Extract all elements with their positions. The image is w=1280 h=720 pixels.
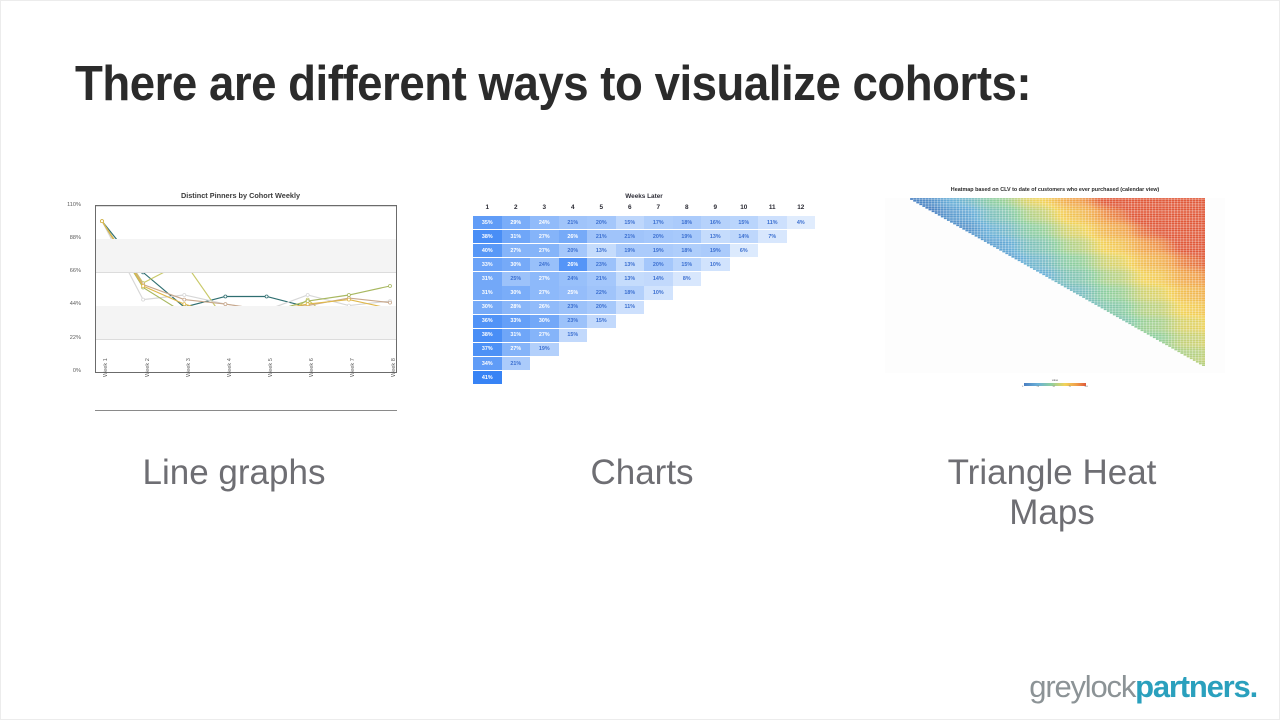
cohort-cell[interactable]: 4% bbox=[787, 216, 816, 229]
cohort-cell[interactable]: 35% bbox=[473, 216, 502, 229]
cohort-cell[interactable]: 20% bbox=[587, 301, 616, 314]
line-data-point bbox=[389, 301, 392, 304]
cohort-cell[interactable]: 26% bbox=[559, 230, 588, 243]
line-data-point bbox=[306, 300, 309, 303]
cohort-cell[interactable]: 21% bbox=[559, 216, 588, 229]
line-chart-band bbox=[96, 306, 396, 339]
line-chart-x-tick: Week 8 bbox=[391, 358, 397, 377]
cohort-cell[interactable]: 18% bbox=[616, 286, 645, 299]
cohort-cell[interactable]: 30% bbox=[530, 315, 559, 328]
line-chart-x-tick: Week 5 bbox=[268, 358, 274, 377]
line-chart-y-tick: 44% bbox=[21, 301, 81, 307]
cohort-cell[interactable]: 15% bbox=[616, 216, 645, 229]
cohort-cell[interactable]: 20% bbox=[559, 244, 588, 257]
caption-line-1: Triangle Heat bbox=[948, 453, 1157, 492]
heatmap-legend: value 0255075100 bbox=[1015, 379, 1095, 388]
cohort-cell[interactable]: 33% bbox=[473, 258, 502, 271]
cohort-cell[interactable]: 30% bbox=[502, 286, 531, 299]
cohort-cell[interactable]: 36% bbox=[473, 315, 502, 328]
slide-canvas: There are different ways to visualize co… bbox=[0, 0, 1280, 720]
cohort-cell[interactable]: 37% bbox=[473, 343, 502, 356]
logo-partners-text: partners. bbox=[1135, 669, 1257, 704]
cohort-column-header: 3 bbox=[530, 204, 559, 211]
cohort-column-header: 7 bbox=[644, 204, 673, 211]
cohort-cell[interactable]: 16% bbox=[701, 216, 730, 229]
cohort-cell[interactable]: 26% bbox=[559, 258, 588, 271]
cohort-cell[interactable]: 19% bbox=[701, 244, 730, 257]
cohort-cell[interactable]: 31% bbox=[473, 272, 502, 285]
cohort-cell[interactable]: 13% bbox=[616, 272, 645, 285]
cohort-cell[interactable]: 6% bbox=[730, 244, 759, 257]
cohort-column-header: 9 bbox=[701, 204, 730, 211]
cohort-column-header: 5 bbox=[587, 204, 616, 211]
line-data-point bbox=[142, 298, 145, 301]
cohort-cell[interactable]: 21% bbox=[587, 230, 616, 243]
cohort-cell[interactable]: 26% bbox=[530, 301, 559, 314]
cohort-cell[interactable]: 20% bbox=[644, 230, 673, 243]
line-data-point bbox=[183, 298, 186, 301]
heatmap-svg bbox=[910, 198, 1205, 366]
cohort-cell[interactable]: 15% bbox=[730, 216, 759, 229]
greylock-partners-logo: greylockpartners. bbox=[1029, 669, 1257, 705]
cohort-chart-panel: Weeks Later 123456789101112 35%29%24%21%… bbox=[473, 193, 815, 398]
line-chart-x-tick: Week 2 bbox=[145, 358, 151, 377]
cohort-cell[interactable]: 23% bbox=[559, 301, 588, 314]
cohort-cell[interactable]: 15% bbox=[587, 315, 616, 328]
cohort-cell[interactable]: 23% bbox=[559, 315, 588, 328]
cohort-cell[interactable]: 31% bbox=[502, 230, 531, 243]
cohort-cell[interactable]: 8% bbox=[673, 272, 702, 285]
cohort-cell[interactable]: 30% bbox=[502, 258, 531, 271]
cohort-cell[interactable]: 27% bbox=[530, 286, 559, 299]
line-chart-x-tick: Week 3 bbox=[186, 358, 192, 377]
line-chart-y-tick: 110% bbox=[21, 202, 81, 208]
cohort-cell[interactable]: 18% bbox=[673, 216, 702, 229]
cohort-cell[interactable]: 27% bbox=[502, 244, 531, 257]
cohort-cell[interactable]: 13% bbox=[587, 244, 616, 257]
line-data-point bbox=[224, 295, 227, 298]
caption-triangle-heat-maps: Triangle Heat Maps bbox=[891, 453, 1213, 533]
cohort-cell[interactable]: 19% bbox=[673, 230, 702, 243]
cohort-column-header: 8 bbox=[673, 204, 702, 211]
heatmap-legend-ticks: 0255075100 bbox=[1022, 386, 1088, 388]
heatmap-canvas bbox=[910, 198, 1205, 366]
cohort-cell[interactable]: 27% bbox=[530, 272, 559, 285]
cohort-cell[interactable]: 31% bbox=[473, 286, 502, 299]
cohort-cell[interactable]: 19% bbox=[644, 244, 673, 257]
line-chart-title: Distinct Pinners by Cohort Weekly bbox=[73, 191, 408, 200]
cohort-cell[interactable]: 20% bbox=[644, 258, 673, 271]
line-data-point bbox=[389, 285, 392, 288]
cohort-cell[interactable]: 28% bbox=[502, 301, 531, 314]
caption-line-graphs: Line graphs bbox=[73, 453, 395, 493]
cohort-cell[interactable]: 30% bbox=[473, 301, 502, 314]
line-chart-gridline bbox=[96, 339, 396, 340]
cohort-column-header: 12 bbox=[787, 204, 816, 211]
line-chart-x-tick: Week 1 bbox=[103, 358, 109, 377]
line-data-point bbox=[183, 294, 186, 297]
cohort-cell[interactable]: 27% bbox=[530, 230, 559, 243]
cohort-cell[interactable]: 17% bbox=[644, 216, 673, 229]
cohort-cell[interactable]: 20% bbox=[587, 216, 616, 229]
cohort-cell[interactable]: 23% bbox=[587, 258, 616, 271]
cohort-column-header: 6 bbox=[616, 204, 645, 211]
cohort-cell[interactable]: 10% bbox=[644, 286, 673, 299]
cohort-cell[interactable]: 25% bbox=[559, 286, 588, 299]
cohort-cell[interactable]: 19% bbox=[616, 244, 645, 257]
caption-charts: Charts bbox=[481, 453, 803, 493]
line-graph-panel: Distinct Pinners by Cohort Weekly 0%22%4… bbox=[73, 191, 408, 413]
line-chart-axis-rule bbox=[95, 410, 397, 411]
heatmap-legend-tick: 100 bbox=[1084, 386, 1088, 388]
cohort-cell[interactable]: 22% bbox=[587, 286, 616, 299]
line-chart-y-tick: 66% bbox=[21, 268, 81, 274]
line-data-point bbox=[142, 285, 145, 288]
cohort-cell[interactable]: 13% bbox=[616, 258, 645, 271]
heatmap-y-tick: 2013-12-24 bbox=[887, 364, 909, 366]
cohort-cell[interactable]: 41% bbox=[473, 371, 502, 384]
cohort-cell[interactable]: 11% bbox=[758, 216, 787, 229]
line-data-point bbox=[306, 294, 309, 297]
line-chart-gridline bbox=[96, 206, 396, 207]
line-chart-x-tick: Week 7 bbox=[350, 358, 356, 377]
cohort-cell[interactable]: 15% bbox=[559, 329, 588, 342]
caption-line-2: Maps bbox=[1009, 493, 1095, 532]
cohort-cell[interactable]: 11% bbox=[616, 301, 645, 314]
cohort-cell[interactable]: 29% bbox=[502, 216, 531, 229]
cohort-cell[interactable]: 27% bbox=[502, 343, 531, 356]
cohort-cell[interactable]: 15% bbox=[673, 258, 702, 271]
page-title: There are different ways to visualize co… bbox=[75, 56, 1031, 112]
line-chart-gridline bbox=[96, 272, 396, 273]
cohort-column-headers: 123456789101112 bbox=[473, 204, 815, 215]
line-chart-x-tick: Week 6 bbox=[309, 358, 315, 377]
cohort-cell[interactable]: 27% bbox=[530, 244, 559, 257]
cohort-cell[interactable]: 33% bbox=[502, 315, 531, 328]
cohort-cell[interactable]: 14% bbox=[730, 230, 759, 243]
line-data-point bbox=[265, 295, 268, 298]
line-data-point bbox=[347, 298, 350, 301]
cohort-cell[interactable]: 18% bbox=[673, 244, 702, 257]
cohort-cell[interactable]: 7% bbox=[758, 230, 787, 243]
heatmap-title: Heatmap based on CLV to date of customer… bbox=[885, 187, 1225, 193]
cohort-cell[interactable]: 24% bbox=[530, 216, 559, 229]
cohort-cell[interactable]: 40% bbox=[473, 244, 502, 257]
cohort-cell[interactable]: 21% bbox=[587, 272, 616, 285]
cohort-cell[interactable]: 27% bbox=[530, 329, 559, 342]
heatmap-y-axis-labels: 2013-01-012013-02-022013-03-032013-04-04… bbox=[887, 198, 909, 366]
cohort-column-header: 4 bbox=[559, 204, 588, 211]
line-data-point bbox=[347, 294, 350, 297]
cohort-cell[interactable]: 34% bbox=[473, 357, 502, 370]
heatmap-legend-tick: 50 bbox=[1053, 386, 1055, 388]
line-chart-y-tick: 0% bbox=[21, 368, 81, 374]
heatmap-legend-tick: 75 bbox=[1068, 386, 1070, 388]
cohort-column-header: 10 bbox=[730, 204, 759, 211]
cohort-cell[interactable]: 14% bbox=[644, 272, 673, 285]
line-chart-band bbox=[96, 239, 396, 272]
line-chart-y-tick: 22% bbox=[21, 335, 81, 341]
cohort-cell[interactable]: 13% bbox=[701, 230, 730, 243]
cohort-cell[interactable]: 31% bbox=[502, 329, 531, 342]
cohort-column-header: 11 bbox=[758, 204, 787, 211]
cohort-chart-title: Weeks Later bbox=[473, 193, 815, 200]
cohort-column-header: 1 bbox=[473, 204, 502, 211]
cohort-cell[interactable]: 25% bbox=[502, 272, 531, 285]
heatmap-inner: 2013-01-012013-02-022013-03-032013-04-04… bbox=[885, 198, 1225, 373]
cohort-cell[interactable]: 24% bbox=[530, 258, 559, 271]
triangle-heatmap-panel: Heatmap based on CLV to date of customer… bbox=[885, 187, 1225, 399]
cohort-cell[interactable]: 38% bbox=[473, 329, 502, 342]
cohort-cell[interactable]: 19% bbox=[530, 343, 559, 356]
line-chart-y-tick: 88% bbox=[21, 235, 81, 241]
cohort-cell[interactable]: 21% bbox=[502, 357, 531, 370]
line-chart-x-tick: Week 4 bbox=[227, 358, 233, 377]
logo-greylock-text: greylock bbox=[1029, 669, 1135, 704]
cohort-column-header: 2 bbox=[502, 204, 531, 211]
heatmap-legend-tick: 25 bbox=[1037, 386, 1039, 388]
line-data-point bbox=[101, 220, 104, 223]
line-chart-svg bbox=[96, 206, 396, 372]
cohort-cell[interactable]: 21% bbox=[616, 230, 645, 243]
line-chart-plot-area bbox=[95, 205, 397, 373]
cohort-cell[interactable]: 38% bbox=[473, 230, 502, 243]
cohort-cell[interactable]: 10% bbox=[701, 258, 730, 271]
heatmap-legend-tick: 0 bbox=[1022, 386, 1023, 388]
cohort-cell[interactable]: 24% bbox=[559, 272, 588, 285]
